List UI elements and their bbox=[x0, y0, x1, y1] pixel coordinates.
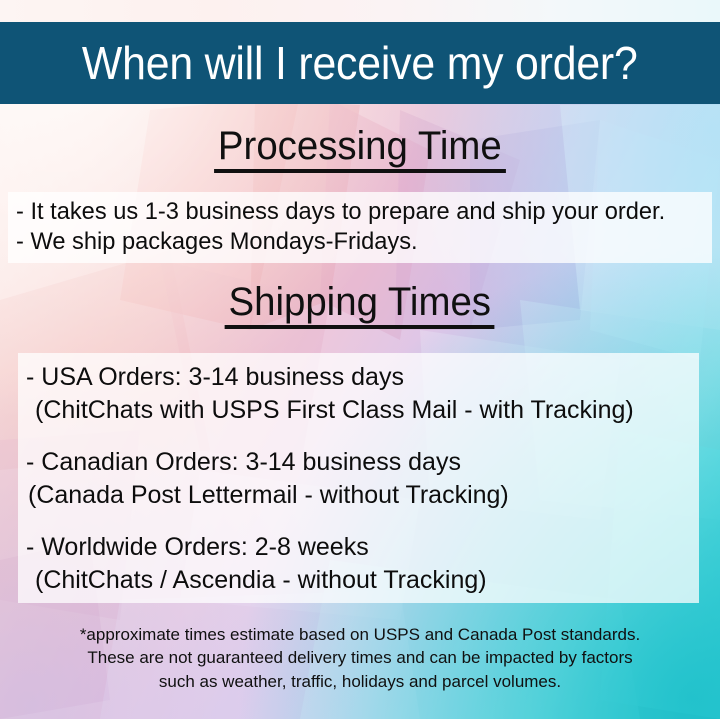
shipping-times-textbox: - USA Orders: 3-14 business days (ChitCh… bbox=[18, 353, 699, 603]
section-heading-processing-time-text: Processing Time bbox=[214, 125, 506, 173]
background-top-strip bbox=[0, 0, 720, 24]
footnote-disclaimer: *approximate times estimate based on USP… bbox=[0, 623, 720, 693]
header-banner: When will I receive my order? bbox=[0, 22, 720, 104]
section-heading-shipping-times-text: Shipping Times bbox=[225, 281, 495, 329]
shipping-group-title: - Worldwide Orders: 2-8 weeks bbox=[26, 531, 699, 564]
section-heading-processing-time: Processing Time bbox=[0, 125, 720, 173]
section-heading-shipping-times: Shipping Times bbox=[0, 281, 720, 329]
footnote-line: such as weather, traffic, holidays and p… bbox=[0, 670, 720, 693]
poster-content: Processing Time - It takes us 1-3 busine… bbox=[0, 104, 720, 719]
shipping-group-worldwide: - Worldwide Orders: 2-8 weeks (ChitChats… bbox=[26, 531, 699, 596]
shipping-group-canada: - Canadian Orders: 3-14 business days (C… bbox=[26, 446, 699, 511]
shipping-group-detail: (Canada Post Lettermail - without Tracki… bbox=[26, 479, 699, 512]
shipping-group-title: - Canadian Orders: 3-14 business days bbox=[26, 446, 699, 479]
page-title: When will I receive my order? bbox=[82, 40, 638, 86]
processing-line: - It takes us 1-3 business days to prepa… bbox=[16, 197, 694, 227]
processing-time-textbox: - It takes us 1-3 business days to prepa… bbox=[8, 192, 712, 263]
shipping-group-detail: (ChitChats / Ascendia - without Tracking… bbox=[26, 564, 699, 597]
shipping-group-title: - USA Orders: 3-14 business days bbox=[26, 361, 699, 394]
shipping-info-poster: When will I receive my order? Processing… bbox=[0, 0, 720, 719]
processing-line: - We ship packages Mondays-Fridays. bbox=[16, 227, 694, 257]
shipping-group-usa: - USA Orders: 3-14 business days (ChitCh… bbox=[26, 361, 699, 426]
shipping-group-detail: (ChitChats with USPS First Class Mail - … bbox=[26, 394, 699, 427]
footnote-line: These are not guaranteed delivery times … bbox=[0, 646, 720, 669]
footnote-line: *approximate times estimate based on USP… bbox=[0, 623, 720, 646]
